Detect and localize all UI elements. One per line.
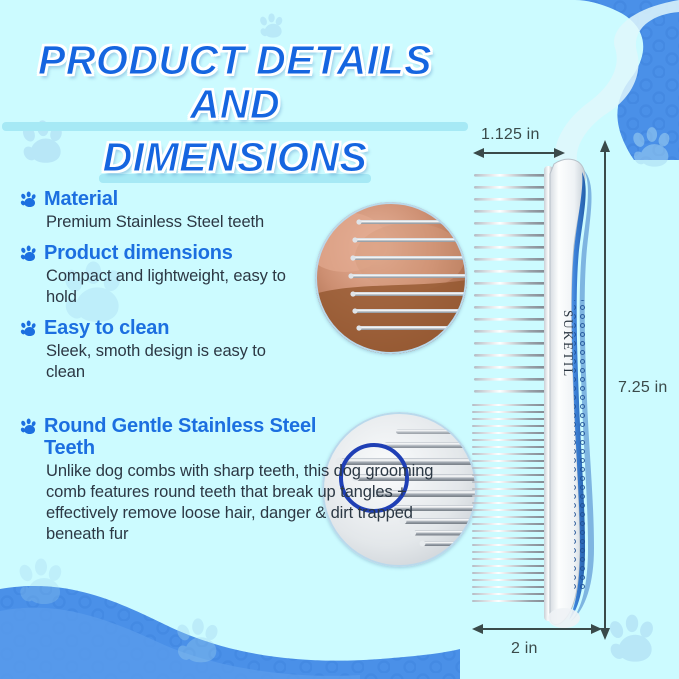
feature-heading-row: Product dimensions [18, 242, 348, 265]
title-line-2-text: DIMENSIONS [103, 134, 368, 180]
dimension-label-height: 7.25 in [618, 379, 667, 397]
feature-body-easy-to-clean: Sleek, smoth design is easy to clean [46, 341, 308, 383]
feature-item-product-dimensions: Product dimensions Compact and lightweig… [18, 242, 348, 308]
brand-text: SUKETIL [561, 310, 576, 378]
title-line-2: DIMENSIONS [97, 135, 374, 181]
feature-item-material: Material Premium Stainless Steel teeth [18, 188, 348, 233]
wave-bottom-left-decoration [0, 569, 460, 679]
feature-list: Material Premium Stainless Steel teeth P… [18, 188, 348, 393]
feature-heading-easy-to-clean: Easy to clean [44, 317, 169, 339]
comb-product-image: SUKETIL [470, 150, 610, 635]
feature-item-easy-to-clean: Easy to clean Sleek, smoth design is eas… [18, 317, 348, 383]
feature-heading-round-gentle-teeth: Round Gentle Stainless Steel Teeth [44, 415, 329, 460]
feature-body-product-dimensions: Compact and lightweight, easy to hold [46, 266, 296, 308]
paw-print-decoration-bottom-left-inner [10, 556, 70, 616]
feature-body-round-gentle-teeth: Unlike dog combs with sharp teeth, this … [46, 461, 468, 545]
dimension-label-width: 1.125 in [481, 126, 540, 144]
paw-print-decoration-right [625, 125, 677, 177]
paw-print-icon [18, 320, 38, 340]
dimension-label-depth: 2 in [511, 640, 538, 658]
product-details-infographic: PRODUCT DETAILS AND DIMENSIONS Mater [0, 0, 679, 679]
paw-print-decoration-bottom-center [168, 616, 226, 674]
title-line-1-text: PRODUCT DETAILS AND [38, 37, 432, 127]
title-line-1: PRODUCT DETAILS AND [0, 38, 470, 129]
feature-heading-row: Easy to clean [18, 317, 348, 340]
feature-item-round-gentle-teeth: Round Gentle Stainless Steel Teeth Unlik… [18, 415, 468, 545]
paw-print-icon [18, 245, 38, 265]
page-title: PRODUCT DETAILS AND DIMENSIONS [0, 38, 470, 181]
feature-heading-row: Material [18, 188, 348, 211]
feature-heading-row: Round Gentle Stainless Steel Teeth [18, 415, 468, 460]
paw-print-icon [18, 418, 38, 438]
paw-print-icon [18, 191, 38, 211]
feature-heading-material: Material [44, 188, 118, 210]
feature-body-material: Premium Stainless Steel teeth [46, 212, 348, 233]
feature-heading-product-dimensions: Product dimensions [44, 242, 233, 264]
feature-list-secondary: Round Gentle Stainless Steel Teeth Unlik… [18, 403, 468, 554]
